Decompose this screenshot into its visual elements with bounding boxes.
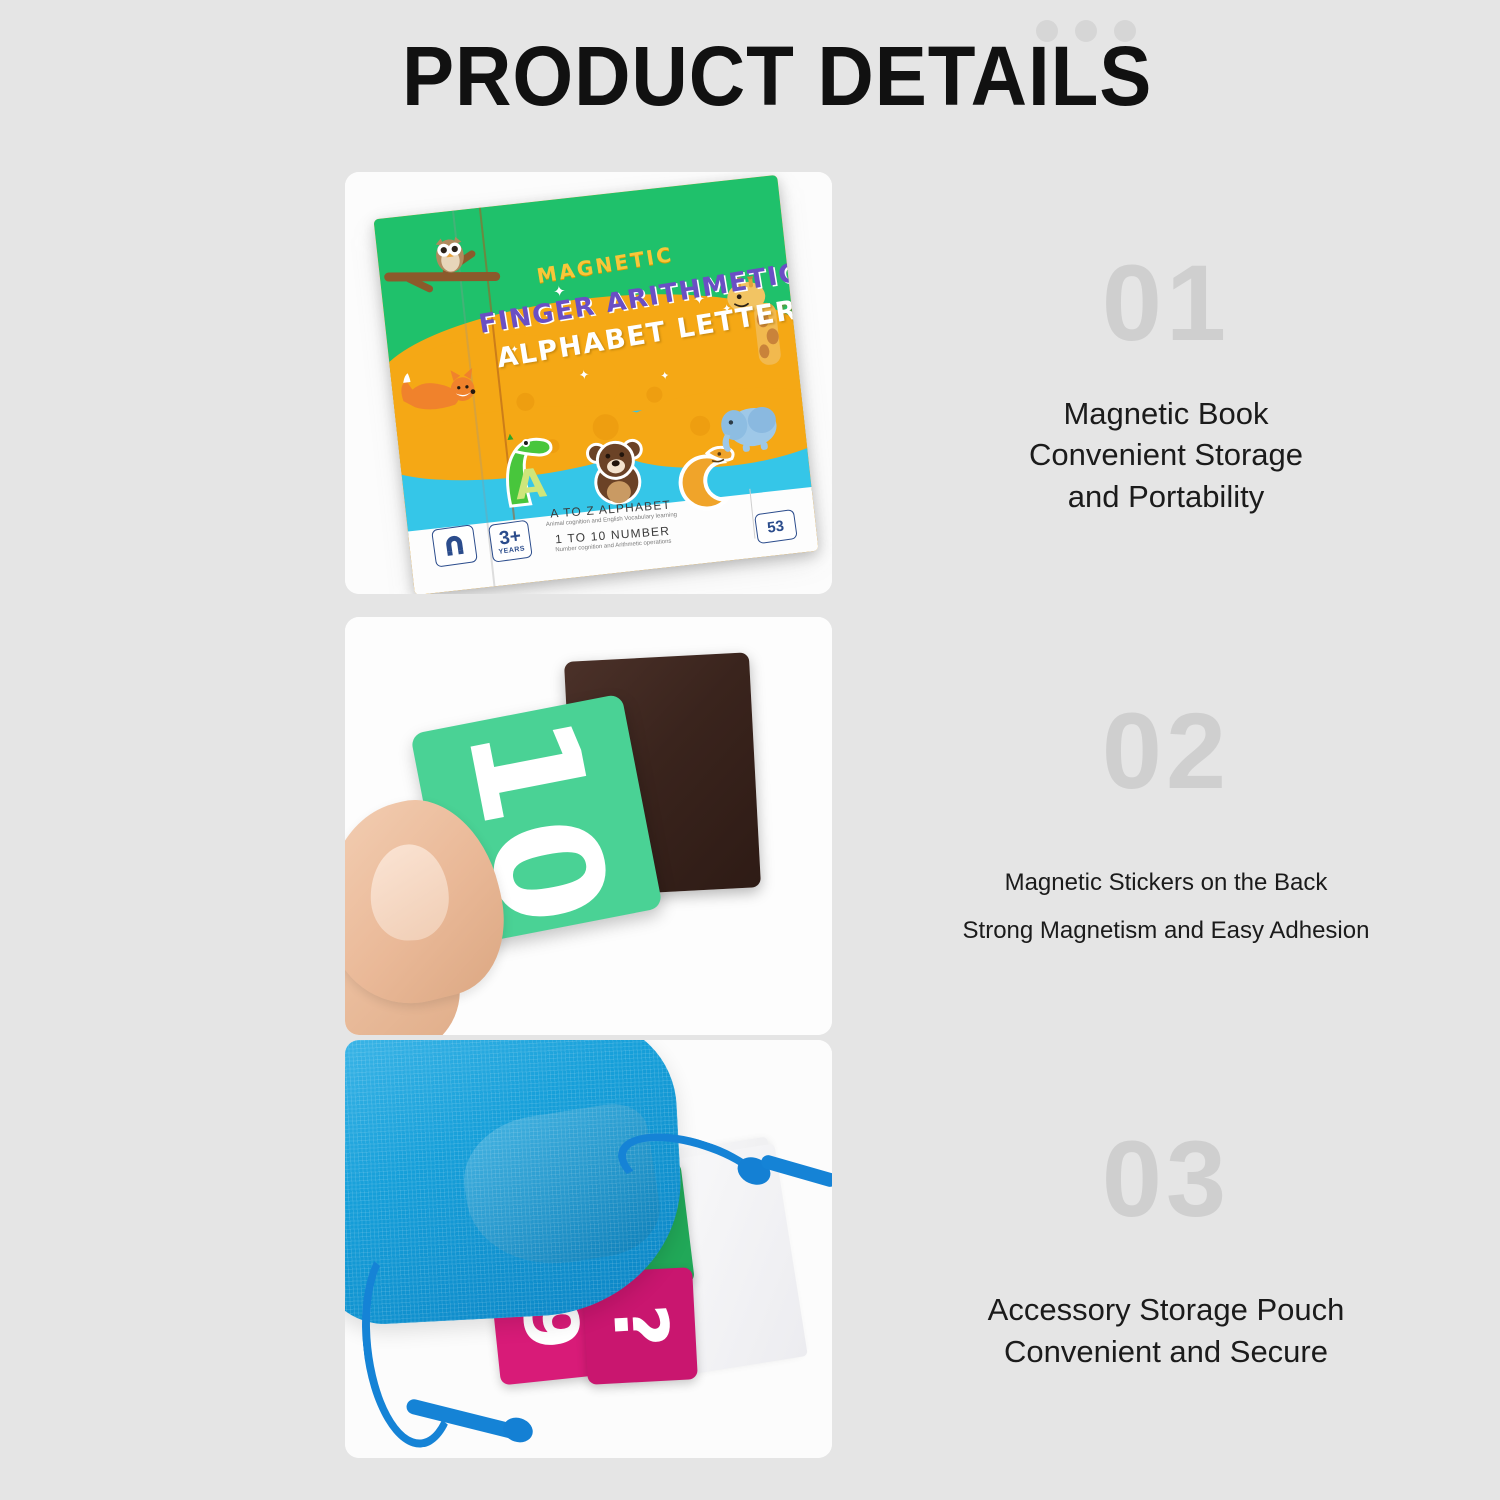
magnet-badge — [432, 525, 479, 568]
book-feature-list: A TO Z ALPHABET Animal cognition and Eng… — [545, 498, 680, 555]
feature-3-line-2: Convenient and Secure — [988, 1331, 1345, 1373]
feature-text-1: Magnetic Book Convenient Storage and Por… — [1029, 393, 1303, 518]
pouch-card-question-label: ? — [602, 1303, 678, 1350]
age-badge: 3+ YEARS — [488, 520, 533, 563]
magnet-back-photo: 10 — [345, 617, 832, 1035]
feature-number-2: 02 — [1102, 697, 1230, 805]
feature-2-line-2: Strong Magnetism and Easy Adhesion — [963, 907, 1370, 955]
decorative-dots — [1036, 20, 1136, 42]
book-feature-2: 1 TO 10 NUMBER Number cognition and Arit… — [547, 524, 680, 555]
magnetic-book-photo: A — [345, 172, 832, 594]
feature-number-3: 03 — [1102, 1125, 1230, 1233]
pouch-fold — [455, 1099, 666, 1277]
feature-1-line-2: Convenient Storage — [1029, 434, 1303, 476]
product-photo-card-2[interactable]: 10 — [345, 617, 832, 1035]
feature-text-3: Accessory Storage Pouch Convenient and S… — [988, 1289, 1345, 1372]
feature-caption-1: 01 Magnetic Book Convenient Storage and … — [832, 172, 1500, 594]
feature-row-2: 10 02 Magnetic Stickers on the Back Stro… — [0, 617, 1500, 1035]
feature-number-1: 01 — [1102, 249, 1230, 357]
decorative-dot-1 — [1036, 20, 1058, 42]
feature-caption-2: 02 Magnetic Stickers on the Back Strong … — [832, 617, 1500, 1035]
product-photo-card-3[interactable]: 10 = 9 ? — [345, 1040, 832, 1458]
page-title: PRODUCT DETAILS — [402, 34, 1152, 118]
decorative-dot-2 — [1075, 20, 1097, 42]
feature-row-1: A — [0, 172, 1500, 594]
decorative-dot-3 — [1114, 20, 1136, 42]
feature-caption-3: 03 Accessory Storage Pouch Convenient an… — [832, 1040, 1500, 1458]
pouch-drawstring-knot-left — [500, 1414, 536, 1446]
activity-book: A — [373, 175, 818, 594]
feature-1-line-1: Magnetic Book — [1029, 393, 1303, 435]
product-photo-card-1[interactable]: A — [345, 172, 832, 594]
feature-row-3: 10 = 9 ? 03 Accessory Storage Pou — [0, 1040, 1500, 1458]
storage-pouch-photo: 10 = 9 ? — [345, 1040, 832, 1458]
book-info-divider — [749, 489, 755, 539]
feature-3-line-1: Accessory Storage Pouch — [988, 1289, 1345, 1331]
feature-1-line-3: and Portability — [1029, 476, 1303, 518]
magnet-icon — [442, 534, 469, 559]
feature-2-line-1: Magnetic Stickers on the Back — [963, 859, 1370, 907]
piece-count-badge: 53 — [754, 509, 798, 544]
thumbnail-illustration — [369, 843, 450, 942]
feature-text-2: Magnetic Stickers on the Back Strong Mag… — [963, 859, 1370, 955]
